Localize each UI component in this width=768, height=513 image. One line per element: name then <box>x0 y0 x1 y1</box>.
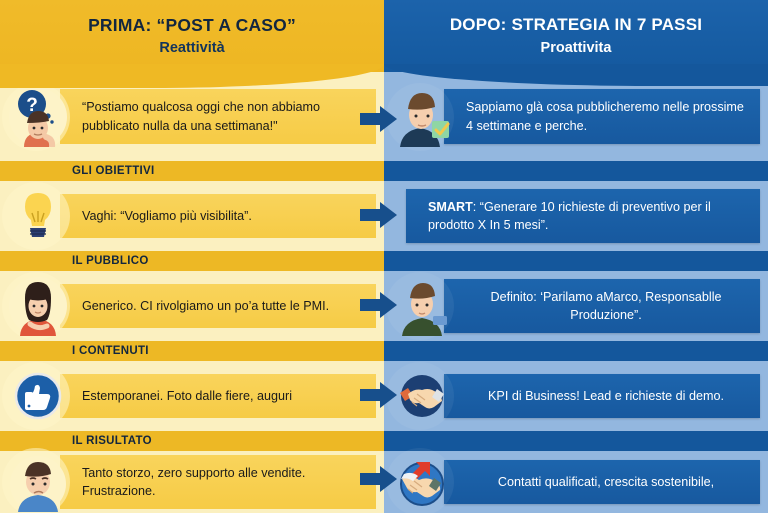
section-band-il-risultato: IL RISULTATO <box>0 431 384 451</box>
before-row-3-text: Generico. CI rivolgiamo un po’a tutte le… <box>82 297 329 315</box>
section-band-label: I CONTENUTI <box>72 345 149 357</box>
before-row-2-bubble: Vaghi: “Vogliamo più visibilita”. <box>60 194 376 238</box>
lightbulb-icon <box>8 186 68 246</box>
after-row-5-bubble: Contatti qualificati, crescita sostenibi… <box>444 460 760 504</box>
section-band-gli-obiettivi: GLI OBIETTIVI <box>0 161 384 181</box>
after-panel-title: DOPO: STRATEGIA IN 7 PASSI <box>450 16 702 35</box>
after-row-1-bubble: Sappiamo glà cosa pubblicheremo nelle pr… <box>444 89 760 144</box>
section-band-label: IL RISULTATO <box>72 435 152 447</box>
after-row-2-text: SMART: “Generare 10 richieste di prevent… <box>428 198 746 235</box>
before-row-4: Estemporanei. Foto dalle fiere, auguri <box>0 361 384 431</box>
before-rows: ? “Postiamo qualcosa oggi che non abbiam… <box>0 72 384 513</box>
section-band-label: GLI OBIETTIVI <box>72 165 155 177</box>
before-row-3-bubble: Generico. CI rivolgiamo un po’a tutte le… <box>60 284 376 328</box>
after-row-4-text: KPI di Business! Lead e richieste di dem… <box>488 387 724 405</box>
smart-label: SMART <box>428 200 473 214</box>
section-band-label: IL PUBBLICO <box>72 255 149 267</box>
after-row-3-bubble: Definito: ‘Parilamo aMarco, Responsablle… <box>444 279 760 334</box>
after-section-band-3 <box>384 251 768 271</box>
woman-avatar-icon <box>8 276 68 336</box>
before-row-4-bubble: Estemporanei. Foto dalle fiere, auguri <box>60 374 376 418</box>
before-row-5: Tanto storzo, zero supporto alle vendite… <box>0 451 384 513</box>
before-panel-header: PRIMA: “POST A CASO” Reattività <box>0 0 384 72</box>
before-panel-subtitle: Reattività <box>159 40 224 56</box>
after-panel: DOPO: STRATEGIA IN 7 PASSI Proattivita <box>384 0 768 513</box>
comparison-infographic: PRIMA: “POST A CASO” Reattività ? <box>0 0 768 513</box>
before-row-5-bubble: Tanto storzo, zero supporto alle vendite… <box>60 455 376 510</box>
after-row-2: SMART: “Generare 10 richieste di prevent… <box>384 181 768 251</box>
man-avatar-icon <box>392 276 452 336</box>
before-row-2: Vaghi: “Vogliamo più visibilita”. <box>0 181 384 251</box>
after-section-band-4 <box>384 341 768 361</box>
after-row-4: KPI di Business! Lead e richieste di dem… <box>384 361 768 431</box>
after-panel-subtitle: Proattivita <box>541 40 612 56</box>
section-band-il-pubblico: IL PUBBLICO <box>0 251 384 271</box>
sad-person-icon <box>8 452 68 512</box>
before-panel: PRIMA: “POST A CASO” Reattività ? <box>0 0 384 513</box>
thumbs-up-icon <box>8 366 68 426</box>
after-row-1-text: Sappiamo glà cosa pubblicheremo nelle pr… <box>466 98 746 135</box>
after-panel-header: DOPO: STRATEGIA IN 7 PASSI Proattivita <box>384 0 768 72</box>
after-rows: Sappiamo glà cosa pubblicheremo nelle pr… <box>384 72 768 513</box>
after-row-3-text: Definito: ‘Parilamo aMarco, Responsablle… <box>466 288 746 325</box>
handshake-icon <box>392 366 452 426</box>
before-row-1-text: “Postiamo qualcosa oggi che non abbiamo … <box>82 98 362 135</box>
before-row-3: Generico. CI rivolgiamo un po’a tutte le… <box>0 271 384 341</box>
before-row-1-bubble: “Postiamo qualcosa oggi che non abbiamo … <box>60 89 376 144</box>
after-row-4-bubble: KPI di Business! Lead e richieste di dem… <box>444 374 760 418</box>
after-section-band-5 <box>384 431 768 451</box>
before-row-2-text: Vaghi: “Vogliamo più visibilita”. <box>82 207 252 225</box>
before-panel-title: PRIMA: “POST A CASO” <box>88 16 296 35</box>
after-row-2-bubble: SMART: “Generare 10 richieste di prevent… <box>406 189 760 244</box>
confident-person-checkmark-icon <box>392 87 452 147</box>
thinking-person-icon: ? <box>8 87 68 147</box>
after-row-3: Definito: ‘Parilamo aMarco, Responsablle… <box>384 271 768 341</box>
before-row-5-text: Tanto storzo, zero supporto alle vendite… <box>82 464 362 501</box>
after-row-5-text: Contatti qualificati, crescita sostenibi… <box>498 473 714 491</box>
after-section-band-2 <box>384 161 768 181</box>
after-row-5: Contatti qualificati, crescita sostenibi… <box>384 451 768 513</box>
handshake-growth-arrow-icon <box>392 452 452 512</box>
section-band-i-contenuti: I CONTENUTI <box>0 341 384 361</box>
before-row-4-text: Estemporanei. Foto dalle fiere, auguri <box>82 387 292 405</box>
